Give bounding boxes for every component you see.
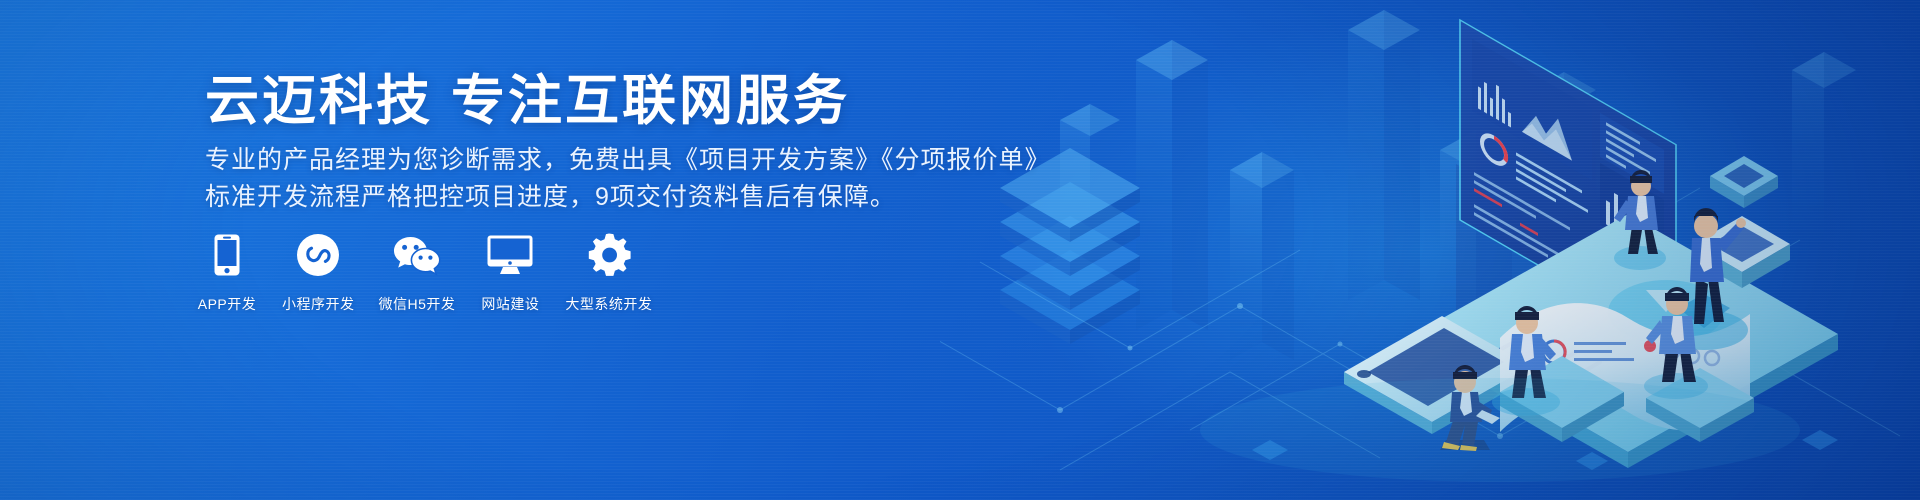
mini-program-icon (297, 232, 339, 278)
service-icon-list: APP开发 小程序开发 (196, 232, 652, 314)
service-label-app: APP开发 (198, 294, 257, 314)
banner-headline: 云迈科技 专注互联网服务 (205, 70, 850, 134)
service-label-wechat-h5: 微信H5开发 (379, 294, 456, 314)
service-item-website[interactable]: 网站建设 (479, 232, 541, 314)
mobile-phone-icon (214, 232, 240, 278)
banner-subtitle-line-1: 专业的产品经理为您诊断需求，免费出具《项目开发方案》《分项报价单》 (205, 148, 1051, 173)
illustration-artwork (940, 0, 1920, 500)
service-item-mini-program[interactable]: 小程序开发 (282, 232, 355, 314)
gear-icon (587, 232, 631, 278)
service-label-large-system: 大型系统开发 (565, 294, 652, 314)
service-item-large-system[interactable]: 大型系统开发 (565, 232, 652, 314)
banner-subtitle-line-2: 标准开发流程严格把控项目进度，9项交付资料售后有保障。 (205, 185, 896, 210)
wechat-icon (393, 232, 441, 278)
service-item-app[interactable]: APP开发 (196, 232, 258, 314)
service-item-wechat-h5[interactable]: 微信H5开发 (379, 232, 456, 314)
banner-content: 云迈科技 专注互联网服务 专业的产品经理为您诊断需求，免费出具《项目开发方案》《… (0, 0, 980, 500)
promo-banner: 云迈科技 专注互联网服务 专业的产品经理为您诊断需求，免费出具《项目开发方案》《… (0, 0, 1920, 500)
monitor-icon (487, 232, 533, 278)
service-label-mini-program: 小程序开发 (282, 294, 355, 314)
service-label-website: 网站建设 (481, 294, 539, 314)
